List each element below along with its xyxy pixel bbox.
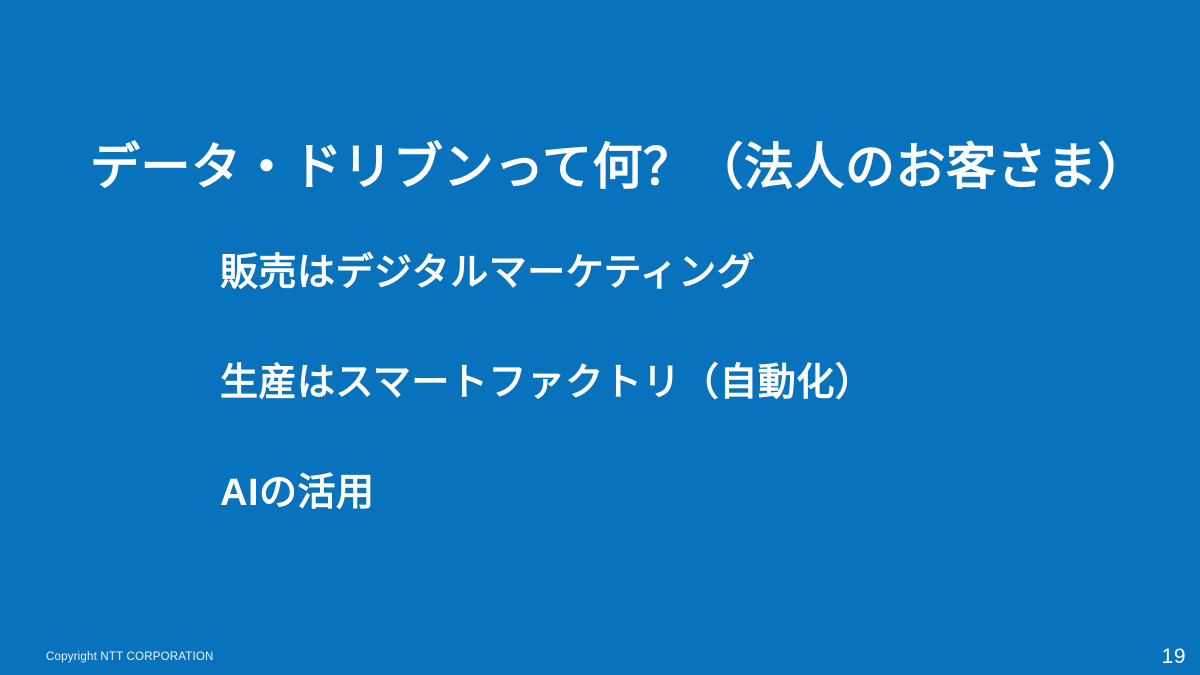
slide-body-list: 販売はデジタルマーケティング 生産はスマートファクトリ（自動化） AIの活用	[220, 252, 1120, 582]
page-number: 19	[1126, 645, 1186, 669]
list-item: 生産はスマートファクトリ（自動化）	[220, 362, 1120, 472]
presentation-slide: データ・ドリブンって何？（法人のお客さま） 販売はデジタルマーケティング 生産は…	[0, 0, 1200, 675]
list-item: AIの活用	[220, 472, 1120, 582]
page-title: データ・ドリブンって何？（法人のお客さま）	[90, 138, 1150, 197]
copyright-notice: Copyright NTT CORPORATION	[46, 651, 214, 663]
list-item: 販売はデジタルマーケティング	[220, 252, 1120, 362]
